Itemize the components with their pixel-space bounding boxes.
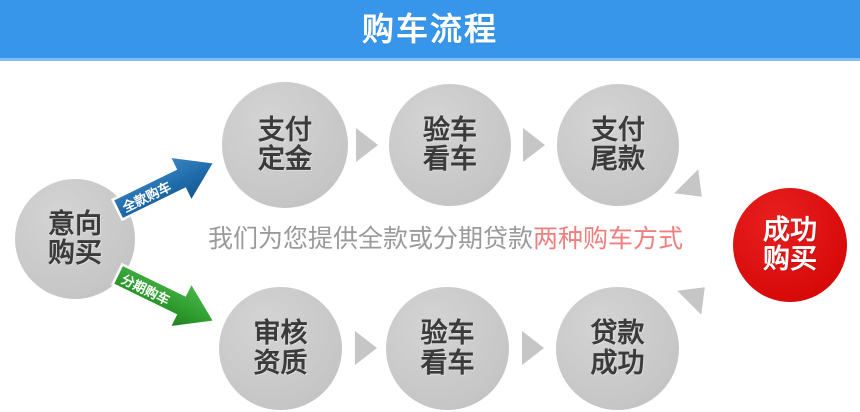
node-label-line1: 支付	[258, 116, 312, 145]
caption-text-primary: 我们为您提供全款或分期贷款	[208, 227, 533, 252]
flow-node-loan-approved[interactable]: 贷款 成功	[556, 287, 679, 410]
connector-arrow-bottom-to-success	[677, 275, 717, 315]
flow-node-successful-purchase[interactable]: 成功 购买	[733, 188, 847, 302]
node-label-line1: 成功	[763, 216, 817, 245]
node-label-line2: 成功	[591, 349, 645, 378]
node-label-line2: 尾款	[591, 145, 645, 174]
node-label-line2: 定金	[258, 145, 312, 174]
caption-text-highlight: 两种购车方式	[533, 227, 683, 252]
node-label-line1: 审核	[254, 319, 308, 348]
flowchart-page: 购车流程 意向 购买 全款购车	[0, 0, 860, 412]
node-label-line2: 看车	[421, 349, 475, 378]
node-label-line2: 资质	[254, 349, 308, 378]
flow-node-review-qualification[interactable]: 审核 资质	[219, 287, 342, 410]
page-title: 购车流程	[362, 13, 498, 45]
node-label-line1: 意向	[48, 210, 102, 239]
branch-arrow-installment[interactable]: 分期购车	[107, 252, 226, 344]
node-label-line1: 验车	[423, 116, 477, 145]
connector-arrow-bottom-1	[355, 331, 377, 365]
flow-node-pay-balance[interactable]: 支付 尾款	[557, 84, 679, 206]
node-label-line1: 验车	[421, 319, 475, 348]
flow-node-inspect-car-top[interactable]: 验车 看车	[389, 84, 511, 206]
node-label-line2: 购买	[763, 245, 817, 274]
node-label-line2: 购买	[48, 239, 102, 268]
node-label-line1: 贷款	[591, 319, 645, 348]
center-caption: 我们为您提供全款或分期贷款两种购车方式	[208, 219, 698, 259]
flow-node-pay-deposit[interactable]: 支付 定金	[222, 82, 348, 208]
connector-arrow-top-1	[356, 128, 378, 162]
connector-arrow-top-to-success	[674, 169, 714, 209]
page-header: 购车流程	[0, 0, 860, 58]
flow-node-inspect-car-bottom[interactable]: 验车 看车	[386, 287, 509, 410]
node-label-line1: 支付	[591, 116, 645, 145]
node-label-line2: 看车	[423, 145, 477, 174]
connector-arrow-top-2	[523, 128, 545, 162]
connector-arrow-bottom-2	[522, 331, 544, 365]
